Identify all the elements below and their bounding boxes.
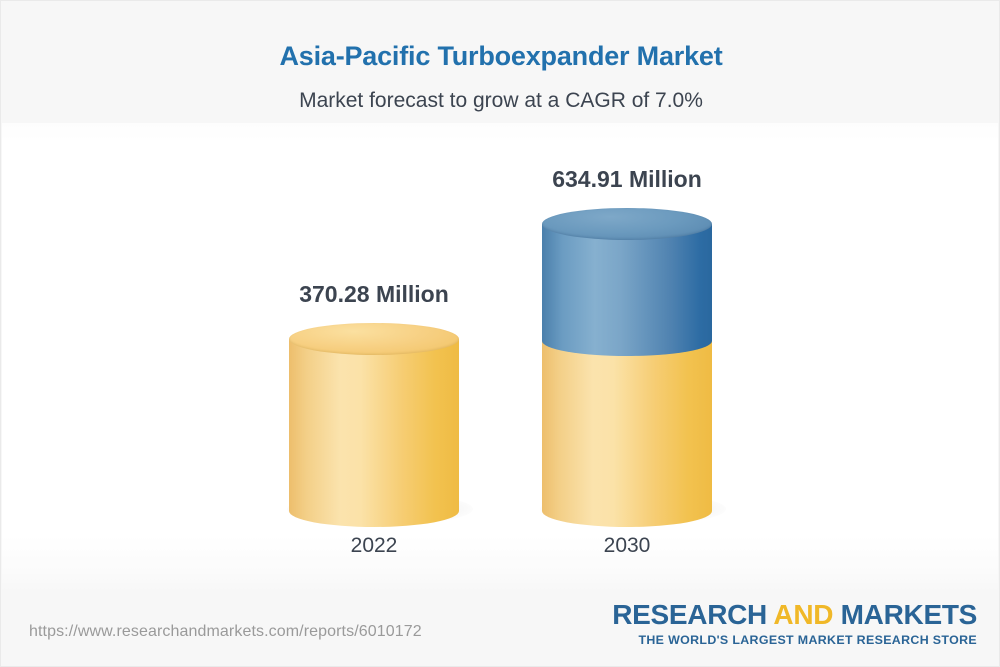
bar-category-label-2022: 2022 bbox=[239, 534, 509, 558]
brand-and-text: AND bbox=[773, 599, 833, 630]
chart-title: Asia-Pacific Turboexpander Market bbox=[1, 41, 1000, 72]
brand-name: RESEARCH AND MARKETS bbox=[612, 601, 977, 629]
bar-category-label-2030: 2030 bbox=[492, 534, 762, 558]
brand-logo[interactable]: RESEARCH AND MARKETS THE WORLD'S LARGEST… bbox=[612, 601, 977, 647]
cylinder-side-2022 bbox=[289, 339, 459, 511]
brand-tagline: THE WORLD'S LARGEST MARKET RESEARCH STOR… bbox=[612, 633, 977, 647]
source-url[interactable]: https://www.researchandmarkets.com/repor… bbox=[29, 623, 422, 641]
brand-markets-text: MARKETS bbox=[833, 599, 977, 630]
cylinder-top-cap-2030 bbox=[542, 208, 712, 240]
bar-value-label-2022: 370.28 Million bbox=[239, 281, 509, 308]
cylinder-top-cap-2022 bbox=[289, 323, 459, 355]
chart-subtitle: Market forecast to grow at a CAGR of 7.0… bbox=[1, 89, 1000, 113]
cylinder-yellow-side-2030 bbox=[542, 341, 712, 511]
brand-research-text: RESEARCH bbox=[612, 599, 773, 630]
cylinder-blue-side-2030 bbox=[542, 224, 712, 341]
plot-area bbox=[2, 123, 998, 591]
bar-value-label-2030: 634.91 Million bbox=[492, 166, 762, 193]
chart-canvas: Asia-Pacific Turboexpander Market Market… bbox=[0, 0, 1000, 667]
